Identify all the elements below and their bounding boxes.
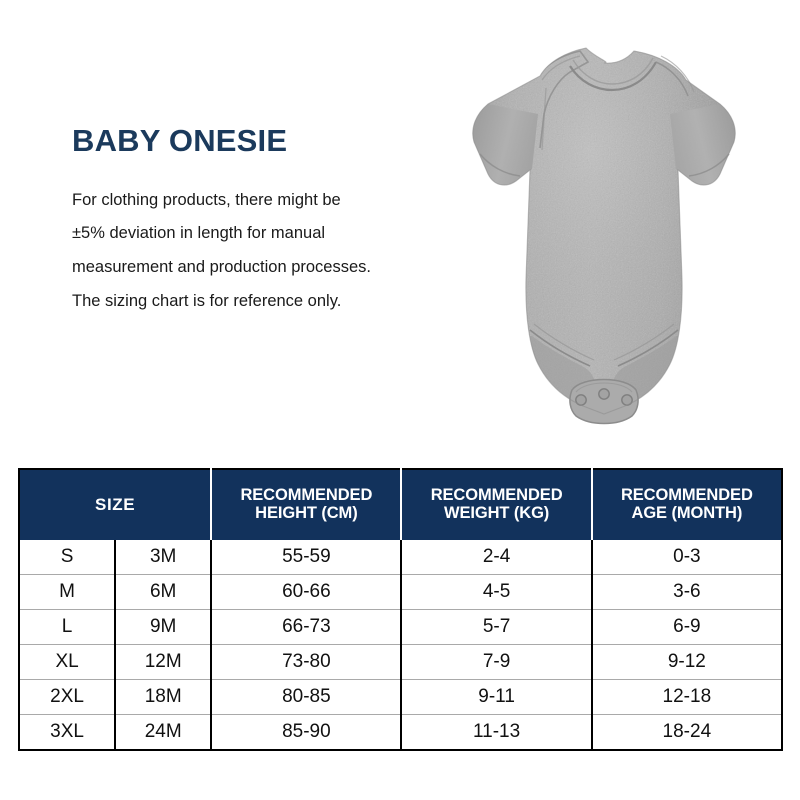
cell-size: S xyxy=(19,540,115,575)
cell-size: XL xyxy=(19,645,115,680)
column-header-height-line2: HEIGHT (CM) xyxy=(255,504,357,522)
table-row: L 9M 66-73 5-7 6-9 xyxy=(19,610,782,645)
cell-height: 73-80 xyxy=(211,645,401,680)
column-header-weight-line2: WEIGHT (KG) xyxy=(444,504,549,522)
intro-paragraph: For clothing products, there might be ±5… xyxy=(72,184,432,319)
cell-weight: 7-9 xyxy=(401,645,591,680)
column-header-age-line1: RECOMMENDED xyxy=(621,486,753,504)
intro-line-3: measurement and production processes. xyxy=(72,251,432,285)
cell-weight: 11-13 xyxy=(401,715,591,751)
cell-age-label: 3M xyxy=(115,540,211,575)
table-row: 3XL 24M 85-90 11-13 18-24 xyxy=(19,715,782,751)
table-row: XL 12M 73-80 7-9 9-12 xyxy=(19,645,782,680)
cell-age-label: 6M xyxy=(115,575,211,610)
intro-line-2: ±5% deviation in length for manual xyxy=(72,217,432,251)
cell-age-month: 3-6 xyxy=(592,575,782,610)
onesie-body xyxy=(473,48,735,414)
column-header-age-line2: AGE (MONTH) xyxy=(632,504,743,522)
cell-age-month: 9-12 xyxy=(592,645,782,680)
cell-age-label: 12M xyxy=(115,645,211,680)
column-header-height: RECOMMENDED HEIGHT (CM) xyxy=(211,469,401,540)
table-header: SIZE RECOMMENDED HEIGHT (CM) RECOMMENDED… xyxy=(19,469,782,540)
cell-height: 60-66 xyxy=(211,575,401,610)
intro-line-1: For clothing products, there might be xyxy=(72,184,432,218)
cell-weight: 9-11 xyxy=(401,680,591,715)
cell-size: 3XL xyxy=(19,715,115,751)
column-header-size: SIZE xyxy=(19,469,211,540)
cell-age-month: 6-9 xyxy=(592,610,782,645)
size-chart: SIZE RECOMMENDED HEIGHT (CM) RECOMMENDED… xyxy=(18,468,783,751)
table-row: M 6M 60-66 4-5 3-6 xyxy=(19,575,782,610)
cell-age-month: 18-24 xyxy=(592,715,782,751)
cell-height: 85-90 xyxy=(211,715,401,751)
cell-age-month: 0-3 xyxy=(592,540,782,575)
onesie-illustration xyxy=(420,18,788,448)
column-header-weight-line1: RECOMMENDED xyxy=(431,486,563,504)
cell-weight: 2-4 xyxy=(401,540,591,575)
cell-weight: 4-5 xyxy=(401,575,591,610)
cell-age-label: 9M xyxy=(115,610,211,645)
column-header-age: RECOMMENDED AGE (MONTH) xyxy=(592,469,782,540)
header-row: SIZE RECOMMENDED HEIGHT (CM) RECOMMENDED… xyxy=(19,469,782,540)
cell-size: 2XL xyxy=(19,680,115,715)
cell-age-label: 18M xyxy=(115,680,211,715)
column-header-height-line1: RECOMMENDED xyxy=(240,486,372,504)
intro-line-4: The sizing chart is for reference only. xyxy=(72,285,432,319)
cell-height: 55-59 xyxy=(211,540,401,575)
table-body: S 3M 55-59 2-4 0-3 M 6M 60-66 4-5 3-6 L … xyxy=(19,540,782,750)
baby-onesie-photo xyxy=(420,18,788,448)
size-chart-table: SIZE RECOMMENDED HEIGHT (CM) RECOMMENDED… xyxy=(18,468,783,751)
cell-size: L xyxy=(19,610,115,645)
intro-text-block: BABY ONESIE For clothing products, there… xyxy=(72,125,432,319)
cell-age-label: 24M xyxy=(115,715,211,751)
cell-age-month: 12-18 xyxy=(592,680,782,715)
cell-height: 80-85 xyxy=(211,680,401,715)
cell-size: M xyxy=(19,575,115,610)
table-row: S 3M 55-59 2-4 0-3 xyxy=(19,540,782,575)
cell-height: 66-73 xyxy=(211,610,401,645)
column-header-weight: RECOMMENDED WEIGHT (KG) xyxy=(401,469,591,540)
page-title: BABY ONESIE xyxy=(72,125,432,158)
table-row: 2XL 18M 80-85 9-11 12-18 xyxy=(19,680,782,715)
cell-weight: 5-7 xyxy=(401,610,591,645)
